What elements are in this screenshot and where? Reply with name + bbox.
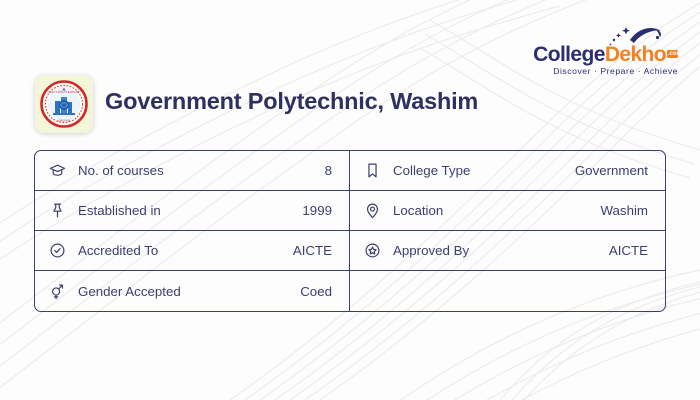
pin-icon — [49, 202, 73, 219]
row-label: Approved By — [388, 243, 609, 258]
graduation-cap-icon — [49, 162, 73, 179]
row-value: AICTE — [609, 243, 648, 258]
college-seal-logo: GOVT POLYTECHNIC WASHIM — [35, 75, 93, 133]
brand-tagline: Discover · Prepare · Achieve — [518, 66, 678, 76]
row-label: College Type — [388, 163, 575, 178]
row-value: 1999 — [302, 203, 332, 218]
collegedekho-brand-logo[interactable]: CollegeDekho.com Discover · Prepare · Ac… — [518, 24, 678, 80]
brand-wordmark: CollegeDekho.com — [518, 44, 678, 65]
row-value: Coed — [300, 284, 332, 299]
college-info-table: No. of courses 8 Established in 1999 — [34, 150, 666, 312]
check-circle-icon — [49, 242, 73, 259]
header: GOVT POLYTECHNIC WASHIM Government Polyt… — [0, 0, 700, 145]
map-pin-icon — [364, 202, 388, 219]
bookmark-icon — [364, 162, 388, 179]
seal-badge-icon — [364, 242, 388, 259]
table-row-empty — [350, 271, 665, 311]
table-row: Established in 1999 — [35, 191, 349, 231]
table-row: Accredited To AICTE — [35, 231, 349, 271]
row-label: Location — [388, 203, 600, 218]
row-label: No. of courses — [73, 163, 325, 178]
brand-name-dekho: Dekho — [605, 43, 666, 66]
row-label: Accredited To — [73, 243, 293, 258]
gender-icon — [49, 283, 73, 300]
table-row: Approved By AICTE — [350, 231, 665, 271]
svg-text:WASHIM: WASHIM — [58, 119, 71, 123]
row-label: Established in — [73, 203, 302, 218]
brand-com-badge: .com — [667, 50, 678, 58]
svg-text:GOVT POLYTECHNIC: GOVT POLYTECHNIC — [48, 90, 80, 94]
row-value: Government — [575, 163, 648, 178]
table-row: Gender Accepted Coed — [35, 271, 349, 311]
row-value: Washim — [600, 203, 648, 218]
row-label: Gender Accepted — [73, 284, 300, 299]
table-row: College Type Government — [350, 151, 665, 191]
table-row: Location Washim — [350, 191, 665, 231]
college-info-banner: GOVT POLYTECHNIC WASHIM Government Polyt… — [0, 0, 700, 400]
info-table-left-column: No. of courses 8 Established in 1999 — [35, 151, 350, 311]
page-title: Government Polytechnic, Washim — [105, 88, 478, 115]
row-value: AICTE — [293, 243, 332, 258]
brand-name-college: College — [533, 43, 605, 66]
table-row: No. of courses 8 — [35, 151, 349, 191]
row-value: 8 — [325, 163, 332, 178]
info-table-right-column: College Type Government Location Washim — [350, 151, 665, 311]
